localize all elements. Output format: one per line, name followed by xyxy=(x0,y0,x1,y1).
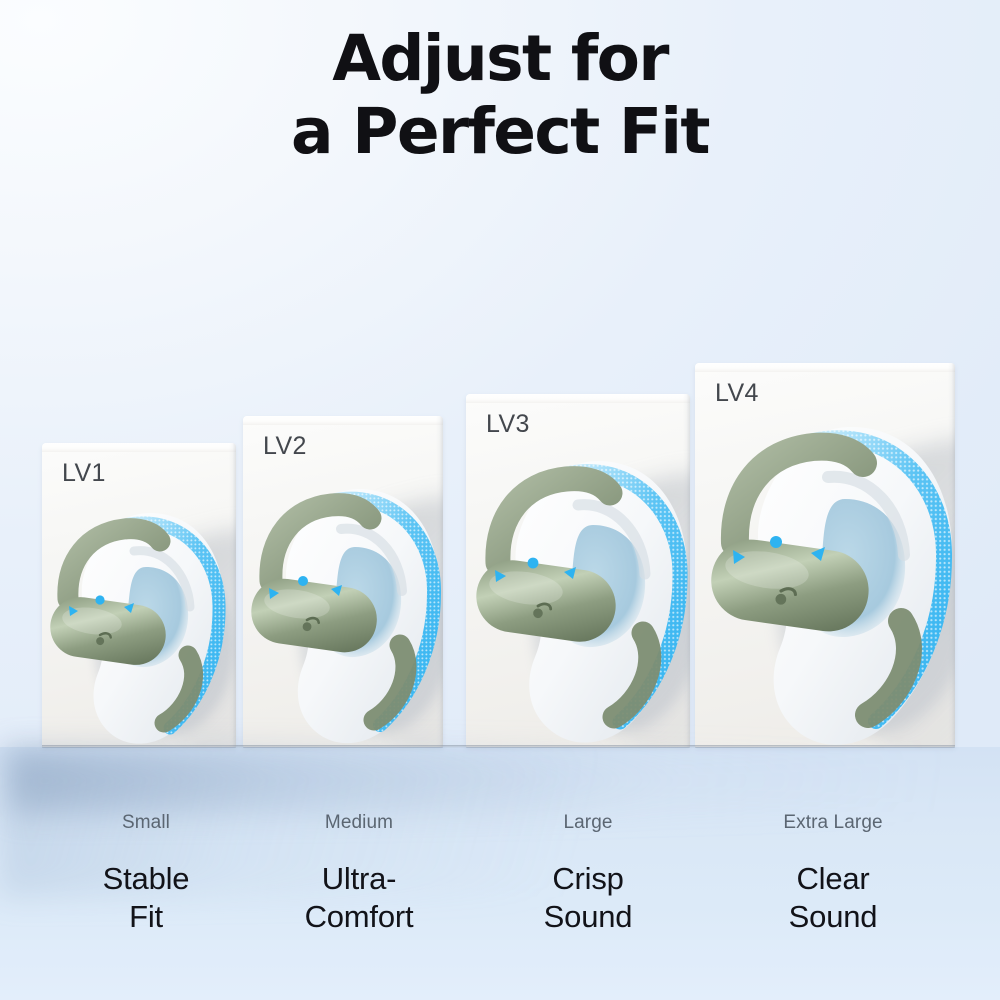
ear-illustration-lv1 xyxy=(42,495,236,747)
ear-illustration-lv3 xyxy=(466,439,690,747)
benefit-line-1: Clear xyxy=(733,860,933,898)
benefit-label-crisp-sound: Crisp Sound xyxy=(498,860,678,936)
size-label-medium: Medium xyxy=(268,812,450,835)
benefit-label-clear-sound: Clear Sound xyxy=(733,860,933,936)
ear-illustration-lv2 xyxy=(243,469,443,747)
benefit-line-1: Ultra- xyxy=(268,860,450,898)
fit-level-card-lv2[interactable]: LV2 xyxy=(243,416,443,747)
benefit-line-1: Stable xyxy=(66,860,226,898)
caption-row: Small Stable Fit Medium Ultra- Comfort L… xyxy=(0,812,1000,992)
caption-lv2: Medium Ultra- Comfort xyxy=(268,812,450,935)
size-label-extra-large: Extra Large xyxy=(733,812,933,835)
size-label-large: Large xyxy=(498,812,678,835)
level-label-lv3: LV3 xyxy=(486,410,530,439)
benefit-line-1: Crisp xyxy=(498,860,678,898)
size-label-small: Small xyxy=(66,812,226,835)
caption-lv3: Large Crisp Sound xyxy=(498,812,678,935)
fit-level-card-lv4[interactable]: LV4 xyxy=(695,363,955,747)
fit-level-card-lv1[interactable]: LV1 xyxy=(42,443,236,747)
benefit-line-2: Sound xyxy=(498,898,678,936)
product-graphic: Adjust for a Perfect Fit LV1 xyxy=(0,0,1000,1000)
caption-lv4: Extra Large Clear Sound xyxy=(733,812,933,935)
benefit-label-stable-fit: Stable Fit xyxy=(66,860,226,936)
level-label-lv1: LV1 xyxy=(62,459,106,488)
fit-level-card-lv3[interactable]: LV3 xyxy=(466,394,690,747)
level-label-lv4: LV4 xyxy=(715,379,759,408)
podium-floor-shadow xyxy=(10,750,940,812)
benefit-line-2: Fit xyxy=(66,898,226,936)
ear-illustration-lv4 xyxy=(701,403,955,747)
benefit-label-ultra-comfort: Ultra- Comfort xyxy=(268,860,450,936)
benefit-line-2: Comfort xyxy=(268,898,450,936)
benefit-line-2: Sound xyxy=(733,898,933,936)
caption-lv1: Small Stable Fit xyxy=(66,812,226,935)
level-label-lv2: LV2 xyxy=(263,432,307,461)
